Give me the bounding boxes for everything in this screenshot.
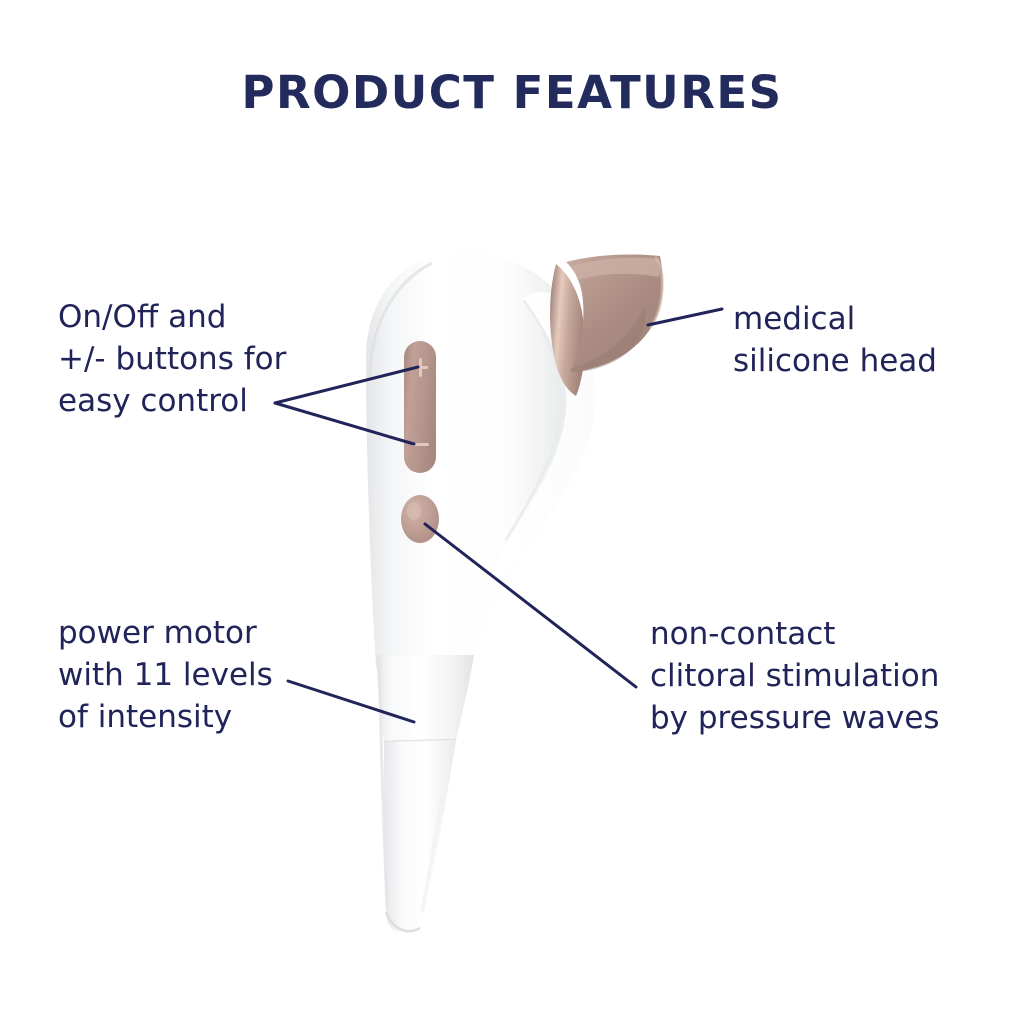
callout-pressure-line-2: clitoral stimulation <box>650 655 940 697</box>
callout-motor-line-2: with 11 levels <box>58 654 273 696</box>
silicone-head <box>550 254 663 396</box>
device-handle <box>376 655 474 932</box>
callout-buttons-line-2: +/- buttons for <box>58 338 286 380</box>
product-illustration <box>0 0 1024 1024</box>
plus-minus-button[interactable] <box>404 341 436 473</box>
power-button[interactable] <box>401 495 439 543</box>
callout-pressure-line-3: by pressure waves <box>650 697 940 739</box>
callout-pressure-line-1: non-contact <box>650 613 940 655</box>
callout-motor-line-1: power motor <box>58 612 273 654</box>
callout-head-line-2: silicone head <box>733 340 937 382</box>
callout-pressure-waves: non-contact clitoral stimulation by pres… <box>650 613 940 739</box>
callout-motor-line-3: of intensity <box>58 696 273 738</box>
callout-silicone-head: medical silicone head <box>733 298 937 382</box>
callout-head-line-1: medical <box>733 298 937 340</box>
callout-buttons-line-3: easy control <box>58 380 286 422</box>
callout-power-motor: power motor with 11 levels of intensity <box>58 612 273 738</box>
callout-buttons-line-1: On/Off and <box>58 296 286 338</box>
product-features-infographic: PRODUCT FEATURES <box>0 0 1024 1024</box>
callout-buttons: On/Off and +/- buttons for easy control <box>58 296 286 422</box>
